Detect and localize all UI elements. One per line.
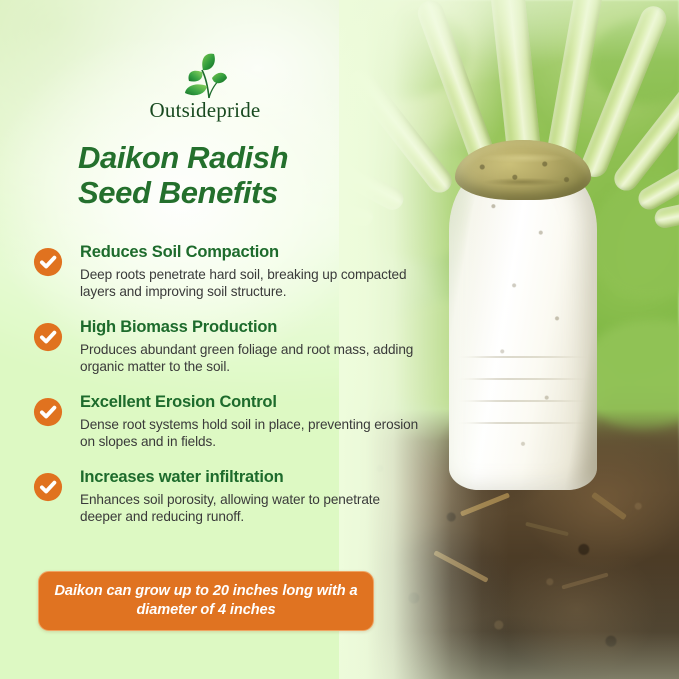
benefit-description: Deep roots penetrate hard soil, breaking… [80, 266, 423, 301]
page-title-line2: Seed Benefits [78, 175, 278, 210]
content-column: Outsidepride Daikon Radish Seed Benefits… [0, 0, 420, 679]
benefit-title: Reduces Soil Compaction [80, 243, 423, 263]
benefit-item: Increases water infiltration Enhances so… [33, 468, 423, 528]
check-circle-icon [33, 472, 63, 502]
benefit-description: Enhances soil porosity, allowing water t… [80, 491, 423, 526]
benefit-item: High Biomass Production Produces abundan… [33, 318, 423, 378]
benefit-item: Excellent Erosion Control Dense root sys… [33, 393, 423, 453]
page-title: Daikon Radish Seed Benefits [78, 140, 408, 210]
brand-logo[interactable]: Outsidepride [140, 52, 270, 123]
check-circle-icon [33, 397, 63, 427]
benefit-description: Dense root systems hold soil in place, p… [80, 416, 423, 451]
check-circle-icon [33, 322, 63, 352]
benefits-list: Reduces Soil Compaction Deep roots penet… [33, 243, 423, 543]
benefit-description: Produces abundant green foliage and root… [80, 341, 423, 376]
benefit-title: High Biomass Production [80, 318, 423, 338]
sprout-leaves-icon [172, 52, 238, 100]
fact-callout-text: Daikon can grow up to 20 inches long wit… [39, 582, 373, 619]
brand-name: Outsidepride [140, 98, 270, 123]
benefit-title: Increases water infiltration [80, 468, 423, 488]
benefit-title: Excellent Erosion Control [80, 393, 423, 413]
benefit-item: Reduces Soil Compaction Deep roots penet… [33, 243, 423, 303]
page-title-line1: Daikon Radish [78, 140, 288, 175]
fact-callout-box: Daikon can grow up to 20 inches long wit… [38, 571, 374, 631]
infographic-poster: Outsidepride Daikon Radish Seed Benefits… [0, 0, 679, 679]
check-circle-icon [33, 247, 63, 277]
